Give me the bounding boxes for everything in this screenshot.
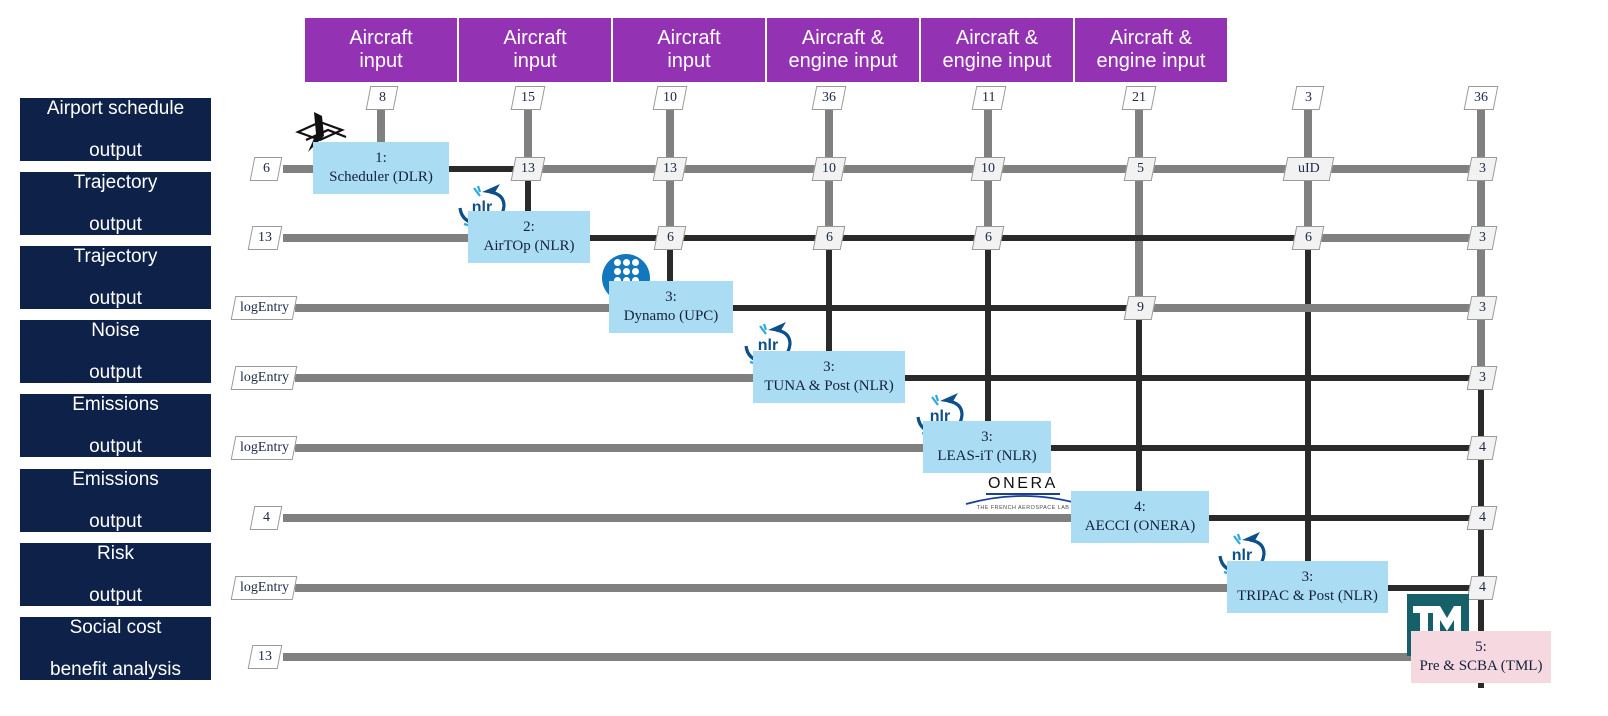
- right-tag-row2: 3: [1467, 226, 1498, 250]
- output-label-line2: benefit analysis: [44, 659, 187, 680]
- process-number: 2:: [523, 218, 535, 238]
- hline-row4-left: [295, 374, 755, 382]
- process-box-pre-scba[interactable]: 5: Pre & SCBA (TML): [1411, 631, 1551, 683]
- top-tag-2: 15: [511, 86, 546, 110]
- process-box-tuna-post[interactable]: 3: TUNA & Post (NLR): [753, 351, 905, 403]
- left-tag-row8: 13: [248, 645, 283, 669]
- left-tag-row3: logEntry: [231, 296, 298, 320]
- junction-tag-row2-col-c: 6: [654, 226, 687, 250]
- svg-text:ONERA: ONERA: [988, 475, 1058, 492]
- left-tag-row4: logEntry: [231, 366, 298, 390]
- header-label-line2: input: [513, 50, 556, 72]
- header-label-line1: Aircraft &: [1110, 27, 1192, 49]
- output-label-line2: output: [83, 362, 148, 383]
- hline-row3-left: [295, 304, 615, 312]
- hline-row4-seg1: [905, 375, 1485, 381]
- hline-row2-seg2: [1306, 234, 1485, 242]
- output-label-line2: output: [68, 288, 164, 309]
- process-box-airtop[interactable]: 2: AirTOp (NLR): [468, 211, 590, 263]
- process-name: AECCI (ONERA): [1085, 517, 1195, 537]
- vline-col-g-lower: [1305, 240, 1311, 588]
- process-box-leas-it[interactable]: 3: LEAS-iT (NLR): [923, 421, 1051, 473]
- hline-row6-left: [283, 514, 1073, 522]
- header-label-line2: engine input: [1097, 50, 1206, 72]
- output-box-emissions-1: Emissionsoutput: [20, 394, 211, 457]
- junction-tag-row1-col-c: 13: [653, 157, 688, 181]
- hline-row6-seg1: [1208, 515, 1485, 521]
- junction-tag-row2-col-d: 6: [813, 226, 846, 250]
- output-box-emissions-2: Emissionsoutput: [20, 469, 211, 532]
- process-number: 4:: [1134, 498, 1146, 518]
- output-label-line1: Risk: [83, 543, 148, 564]
- header-label-line1: Aircraft: [349, 27, 412, 49]
- header-aircraft-input-1: Aircraftinput: [305, 18, 457, 82]
- output-label-line1: Trajectory: [68, 246, 164, 267]
- output-label-line1: Emissions: [66, 469, 165, 490]
- hline-row2-left: [283, 234, 473, 242]
- svg-text:THE FRENCH AEROSPACE LAB: THE FRENCH AEROSPACE LAB: [977, 505, 1070, 511]
- output-box-social-cost-benefit: Social costbenefit analysis: [20, 617, 211, 680]
- process-box-dynamo[interactable]: 3: Dynamo (UPC): [609, 281, 733, 333]
- output-box-trajectory-2: Trajectoryoutput: [20, 246, 211, 309]
- diagram-canvas: Airport scheduleoutput Trajectoryoutput …: [0, 0, 1608, 716]
- header-aircraft-engine-input-2: Aircraft &engine input: [921, 18, 1073, 82]
- output-label-line2: output: [66, 436, 165, 457]
- header-label-line2: input: [667, 50, 710, 72]
- right-tag-row1: 3: [1467, 157, 1498, 181]
- junction-tag-row3-col-f: 9: [1124, 296, 1157, 320]
- process-number: 3:: [823, 358, 835, 378]
- output-label-line2: output: [68, 214, 164, 235]
- hline-row3-seg2: [1136, 304, 1485, 312]
- right-tag-row7: 4: [1467, 576, 1498, 600]
- header-aircraft-engine-input-1: Aircraft &engine input: [767, 18, 919, 82]
- top-tag-8: 36: [1464, 86, 1499, 110]
- process-name: LEAS-iT (NLR): [937, 447, 1036, 467]
- process-number: 5:: [1475, 638, 1487, 658]
- onera-logo-mark: ONERA THE FRENCH AEROSPACE LAB: [962, 472, 1084, 512]
- hline-row5-seg1: [1050, 445, 1485, 451]
- right-tag-row5: 4: [1467, 436, 1498, 460]
- process-name: Pre & SCBA (TML): [1420, 657, 1543, 677]
- top-tag-5: 11: [972, 86, 1007, 110]
- process-name: AirTOp (NLR): [484, 237, 575, 257]
- output-box-risk: Riskoutput: [20, 543, 211, 606]
- output-label-line1: Social cost: [44, 617, 187, 638]
- header-aircraft-engine-input-3: Aircraft &engine input: [1075, 18, 1227, 82]
- output-label-line1: Emissions: [66, 394, 165, 415]
- header-label-line2: engine input: [789, 50, 898, 72]
- header-label-line2: input: [359, 50, 402, 72]
- hline-row3-seg1: [732, 305, 1140, 311]
- hline-row7-left: [295, 584, 1227, 592]
- right-tag-row6: 4: [1467, 506, 1498, 530]
- left-tag-row5: logEntry: [231, 436, 298, 460]
- junction-tag-row2-col-e: 6: [972, 226, 1005, 250]
- onera-logo: ONERA THE FRENCH AEROSPACE LAB: [962, 472, 1084, 512]
- junction-tag-row1-col-b: 13: [511, 157, 546, 181]
- header-aircraft-input-2: Aircraftinput: [459, 18, 611, 82]
- junction-tag-row1-col-d: 10: [812, 157, 847, 181]
- left-tag-row7: logEntry: [231, 576, 298, 600]
- vline-col-e-lower: [985, 240, 991, 448]
- header-label-line2: engine input: [943, 50, 1052, 72]
- header-label-line1: Aircraft &: [802, 27, 884, 49]
- vline-col-f-lower: [1136, 310, 1142, 518]
- output-box-airport-schedule: Airport scheduleoutput: [20, 98, 211, 161]
- hline-row2-seg1: [588, 235, 1310, 241]
- process-name: Dynamo (UPC): [624, 307, 719, 327]
- output-box-trajectory-1: Trajectoryoutput: [20, 172, 211, 235]
- process-name: Scheduler (DLR): [329, 168, 433, 188]
- junction-tag-row1-col-f: 5: [1124, 157, 1157, 181]
- junction-tag-row1-col-e: 10: [971, 157, 1006, 181]
- output-label-line1: Noise: [83, 320, 148, 341]
- header-label-line1: Aircraft: [503, 27, 566, 49]
- process-number: 1:: [375, 149, 387, 169]
- output-label-line1: Airport schedule: [41, 98, 190, 119]
- left-tag-row6: 4: [250, 506, 283, 530]
- top-tag-6: 21: [1122, 86, 1157, 110]
- right-tag-row3: 3: [1467, 296, 1498, 320]
- top-tag-7: 3: [1292, 86, 1325, 110]
- top-tag-3: 10: [653, 86, 688, 110]
- process-number: 3:: [665, 288, 677, 308]
- output-box-noise: Noiseoutput: [20, 320, 211, 383]
- process-number: 3:: [981, 428, 993, 448]
- header-aircraft-input-3: Aircraftinput: [613, 18, 765, 82]
- top-tag-4: 36: [812, 86, 847, 110]
- left-tag-row1: 6: [250, 157, 283, 181]
- hline-row5-left: [295, 444, 925, 452]
- process-box-tripac-post[interactable]: 3: TRIPAC & Post (NLR): [1227, 561, 1388, 613]
- left-tag-row2: 13: [248, 226, 283, 250]
- output-label-line1: Trajectory: [68, 172, 164, 193]
- junction-tag-row2-col-g: 6: [1292, 226, 1325, 250]
- process-box-scheduler[interactable]: 1: Scheduler (DLR): [313, 142, 449, 194]
- header-label-line1: Aircraft &: [956, 27, 1038, 49]
- process-number: 3:: [1302, 568, 1314, 588]
- process-name: TRIPAC & Post (NLR): [1237, 587, 1378, 607]
- process-box-aecci[interactable]: 4: AECCI (ONERA): [1071, 491, 1209, 543]
- hline-row8-left: [283, 653, 1411, 661]
- process-name: TUNA & Post (NLR): [764, 377, 894, 397]
- output-label-line2: output: [83, 585, 148, 606]
- output-label-line2: output: [41, 140, 190, 161]
- header-label-line1: Aircraft: [657, 27, 720, 49]
- right-tag-row4: 3: [1467, 366, 1498, 390]
- top-tag-1: 8: [366, 86, 399, 110]
- output-label-line2: output: [66, 511, 165, 532]
- junction-tag-row1-col-g: uID: [1283, 157, 1335, 181]
